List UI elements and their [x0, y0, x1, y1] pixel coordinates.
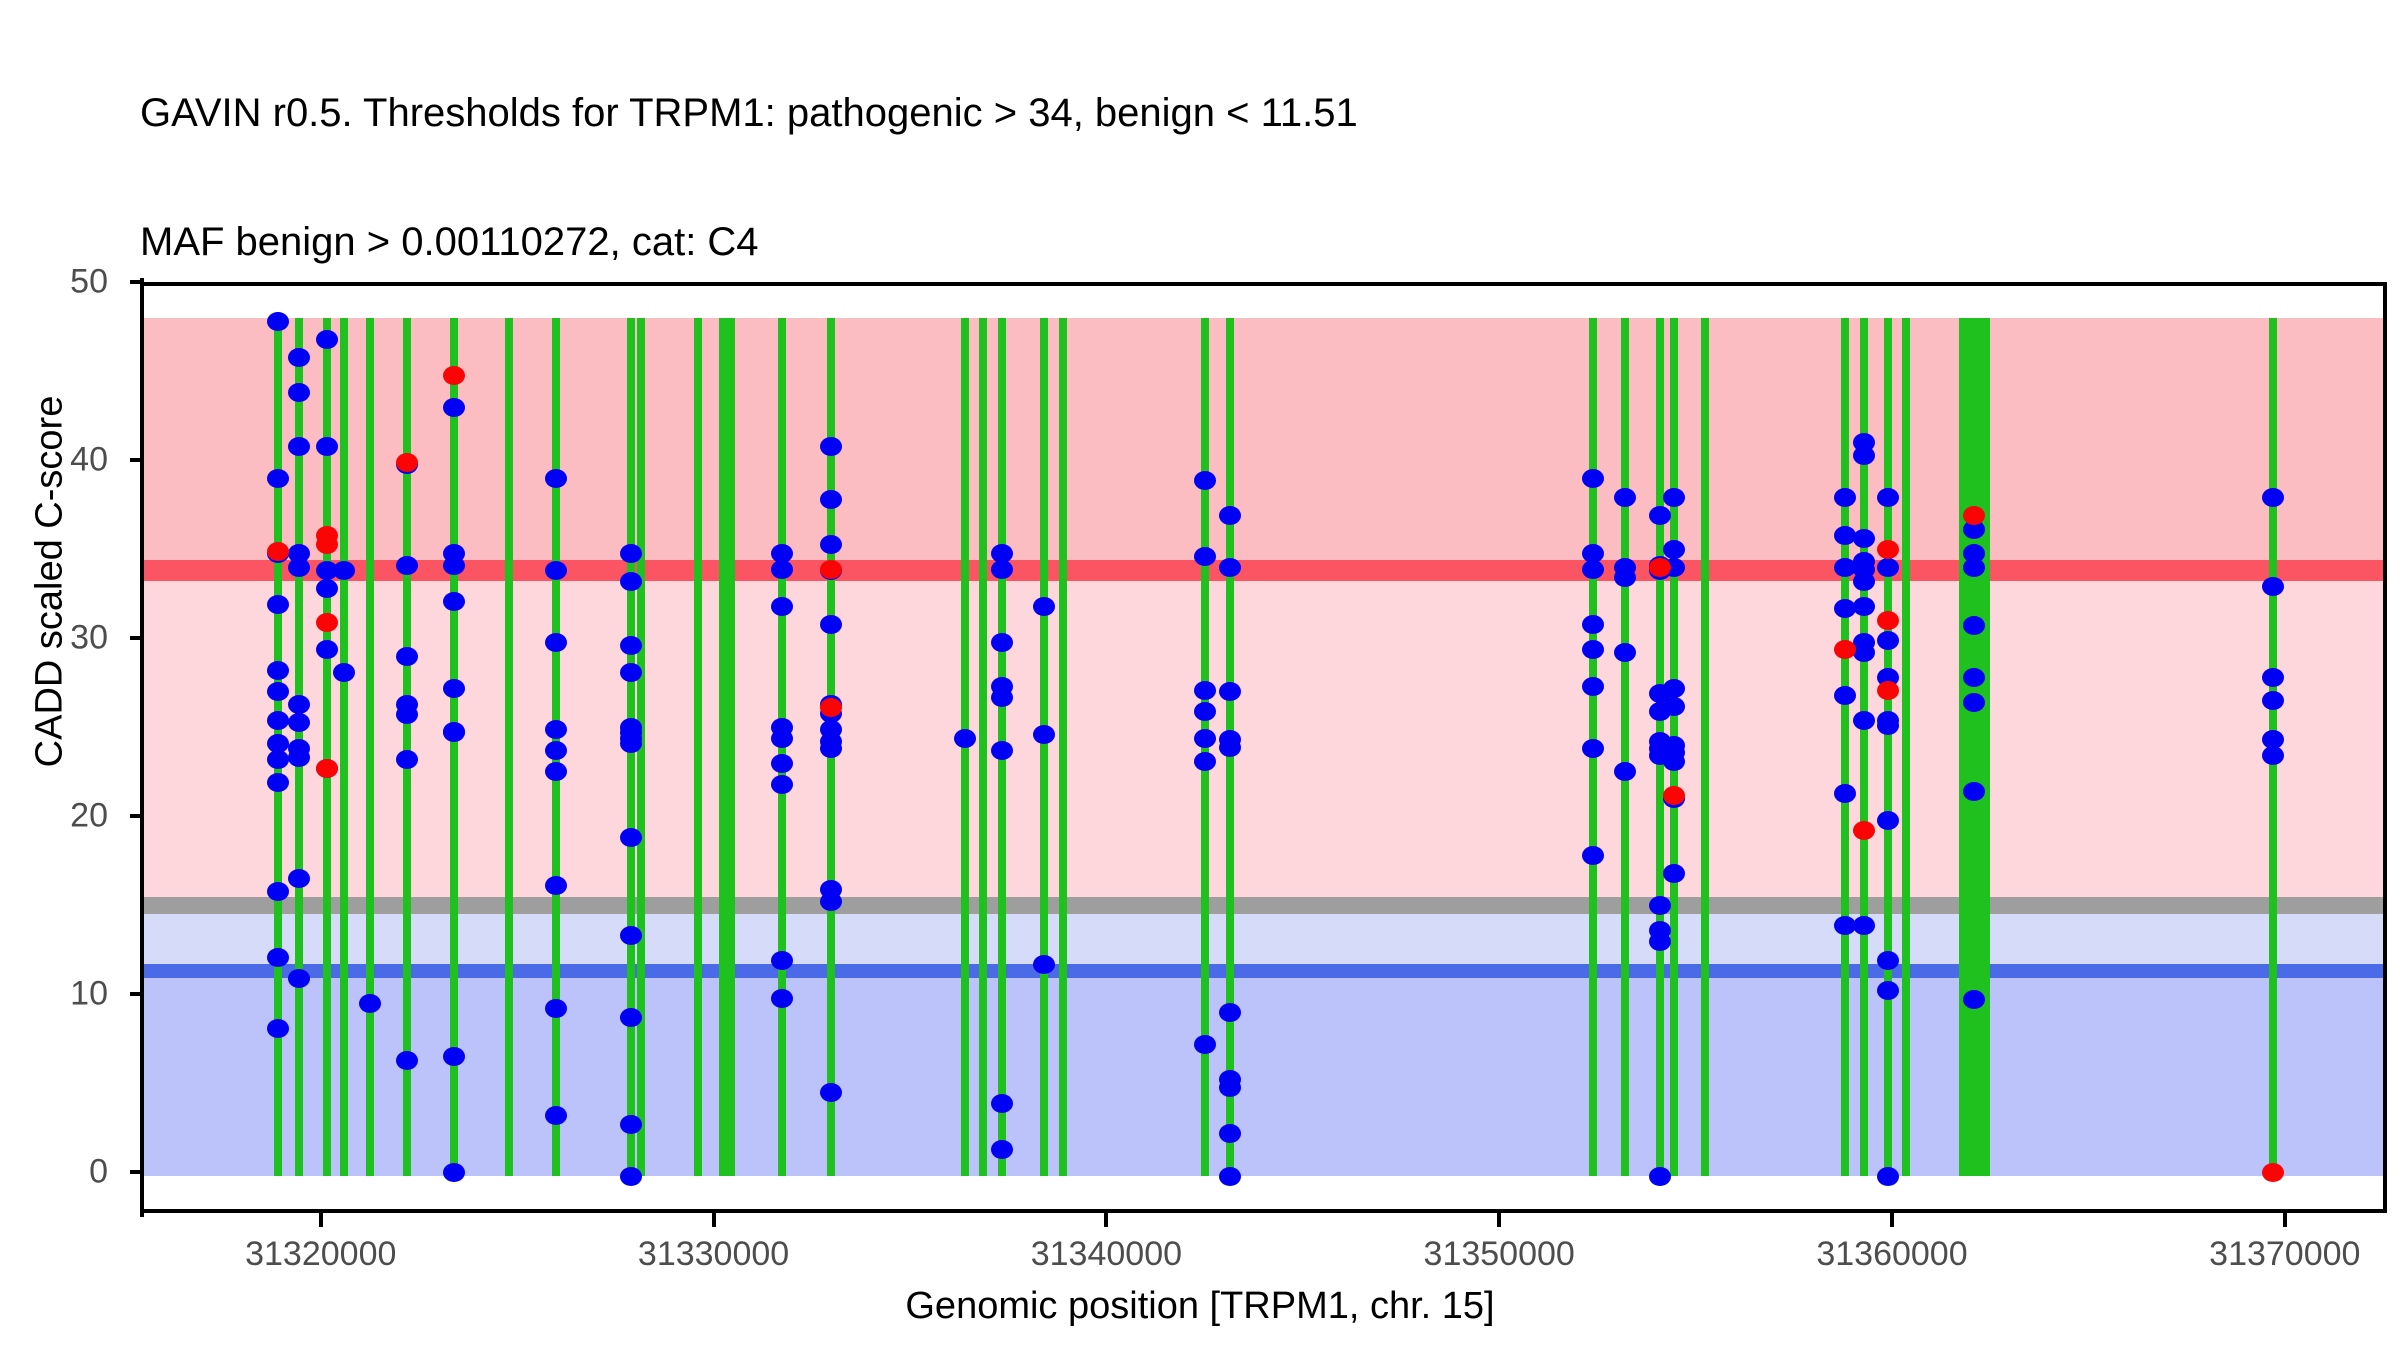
gnomad-variant-point — [1219, 558, 1241, 577]
clinvar-pathogenic-point — [1663, 786, 1685, 805]
gnomad-variant-point — [771, 989, 793, 1008]
gnomad-variant-point — [316, 330, 338, 349]
x-tick — [319, 1213, 323, 1227]
gnomad-variant-point — [1582, 615, 1604, 634]
gnomad-variant-point — [267, 711, 289, 730]
exon-line — [694, 318, 702, 1176]
gnomad-variant-point — [820, 615, 842, 634]
y-tick — [130, 1170, 144, 1174]
exon-line — [366, 318, 374, 1176]
gnomad-variant-point — [443, 679, 465, 698]
gnomad-variant-point — [443, 592, 465, 611]
exon-line — [1841, 318, 1849, 1176]
gnomad-variant-point — [267, 661, 289, 680]
gnomad-variant-point — [1219, 1124, 1241, 1143]
gnomad-variant-point — [771, 775, 793, 794]
gnomad-variant-point — [820, 437, 842, 456]
exon-line — [340, 318, 348, 1176]
gnomad-variant-point — [1649, 932, 1671, 951]
gnomad-variant-point — [1194, 702, 1216, 721]
gnomad-variant-point — [267, 750, 289, 769]
exon-line — [403, 318, 411, 1176]
gnomad-variant-point — [396, 1051, 418, 1070]
x-tick — [1497, 1213, 1501, 1227]
exon-line — [1701, 318, 1709, 1176]
clinvar-pathogenic-point — [1877, 681, 1899, 700]
clinvar-pathogenic-point — [820, 560, 842, 579]
gnomad-variant-point — [443, 398, 465, 417]
gnomad-variant-point — [1219, 1003, 1241, 1022]
x-tick-label: 31330000 — [638, 1235, 789, 1274]
gnomad-variant-point — [1194, 471, 1216, 490]
gnomad-variant-point — [316, 437, 338, 456]
gnomad-variant-point — [620, 1115, 642, 1134]
y-tick-label: 50 — [70, 263, 108, 302]
clinvar-pathogenic-point — [316, 613, 338, 632]
y-tick — [130, 458, 144, 462]
gnomad-variant-point — [288, 969, 310, 988]
exon-line — [727, 318, 735, 1176]
y-tick-label: 20 — [70, 797, 108, 836]
y-tick — [130, 280, 144, 284]
y-tick-label: 0 — [89, 1153, 108, 1192]
clinvar-pathogenic-point — [1877, 540, 1899, 559]
x-tick — [712, 1213, 716, 1227]
x-tick — [1890, 1213, 1894, 1227]
gnomad-variant-point — [1877, 811, 1899, 830]
gnomad-variant-point — [316, 640, 338, 659]
gnomad-variant-point — [1663, 752, 1685, 771]
gnomad-variant-point — [620, 1008, 642, 1027]
gnomad-variant-point — [991, 560, 1013, 579]
y-tick-label: 10 — [70, 975, 108, 1014]
y-axis-label: CADD scaled C-score — [29, 232, 72, 932]
gnomad-variant-point — [1194, 1035, 1216, 1054]
gnomad-variant-point — [333, 663, 355, 682]
gnomad-variant-point — [1219, 1167, 1241, 1186]
band-pathogenic-zone — [144, 318, 2383, 571]
gnomad-variant-point — [288, 348, 310, 367]
clinvar-pathogenic-point — [267, 542, 289, 561]
x-tick-label: 31320000 — [245, 1235, 396, 1274]
band-benign-zone — [144, 978, 2383, 1176]
gnomad-variant-point — [267, 469, 289, 488]
gnomad-variant-point — [771, 729, 793, 748]
y-axis: 01020304050 — [116, 278, 144, 1217]
gnomad-variant-point — [620, 572, 642, 591]
band-benign-threshold — [144, 964, 2383, 978]
gnomad-variant-point — [267, 595, 289, 614]
gnomad-variant-point — [1033, 955, 1055, 974]
gnomad-variant-point — [1853, 446, 1875, 465]
gnomad-variant-point — [267, 948, 289, 967]
band-vous-zone — [144, 581, 2383, 905]
gnomad-variant-point — [1834, 686, 1856, 705]
gnomad-variant-point — [316, 579, 338, 598]
gnomad-variant-point — [620, 544, 642, 563]
gnomad-variant-point — [1219, 1078, 1241, 1097]
exon-line — [505, 318, 513, 1176]
x-tick-label: 31350000 — [1424, 1235, 1575, 1274]
x-tick — [2283, 1213, 2287, 1227]
x-tick — [1104, 1213, 1108, 1227]
band-pathogenic-threshold — [144, 560, 2383, 581]
gnomad-variant-point — [288, 558, 310, 577]
gnomad-variant-point — [1663, 679, 1685, 698]
gnomad-variant-point — [1194, 752, 1216, 771]
clinvar-pathogenic-point — [1649, 558, 1671, 577]
exon-line — [1884, 318, 1892, 1176]
gnomad-variant-point — [1834, 784, 1856, 803]
gnomad-variant-point — [267, 312, 289, 331]
gnomad-variant-point — [1663, 864, 1685, 883]
gnomad-variant-point — [771, 597, 793, 616]
gnomad-variant-point — [359, 994, 381, 1013]
gnomad-variant-point — [1853, 916, 1875, 935]
y-tick-label: 40 — [70, 441, 108, 480]
clinvar-pathogenic-point — [396, 453, 418, 472]
x-tick-label: 31340000 — [1031, 1235, 1182, 1274]
gnomad-variant-point — [545, 720, 567, 739]
gnomad-variant-point — [620, 1167, 642, 1186]
exon-line — [1040, 318, 1048, 1176]
exon-line — [1621, 318, 1629, 1176]
gnomad-variant-point — [620, 636, 642, 655]
title-line-1: GAVIN r0.5. Thresholds for TRPM1: pathog… — [140, 92, 2340, 135]
gnomad-variant-point — [1033, 597, 1055, 616]
band-between-zone — [144, 914, 2383, 964]
gnomad-variant-point — [396, 750, 418, 769]
gnomad-variant-point — [771, 560, 793, 579]
y-tick — [130, 992, 144, 996]
clinvar-pathogenic-point — [443, 366, 465, 385]
gnomad-variant-point — [954, 729, 976, 748]
gnomad-variant-point — [1663, 697, 1685, 716]
x-axis-line — [140, 1209, 2387, 1213]
gnomad-variant-point — [991, 1094, 1013, 1113]
clinvar-pathogenic-point — [2262, 1163, 2284, 1182]
gnomad-variant-point — [267, 682, 289, 701]
gnomad-variant-point — [267, 1019, 289, 1038]
y-tick — [130, 636, 144, 640]
clinvar-pathogenic-point — [316, 759, 338, 778]
x-tick-label: 31370000 — [2209, 1235, 2360, 1274]
gnomad-variant-point — [1033, 725, 1055, 744]
exon-line — [719, 318, 727, 1176]
gnomad-variant-point — [1877, 558, 1899, 577]
gnomad-variant-point — [620, 734, 642, 753]
gnomad-variant-point — [620, 663, 642, 682]
exon-line — [979, 318, 987, 1176]
gnomad-variant-point — [545, 469, 567, 488]
gnomad-variant-point — [771, 754, 793, 773]
y-tick — [130, 814, 144, 818]
band-fallback-threshold — [144, 897, 2383, 915]
gnomad-variant-point — [1194, 681, 1216, 700]
x-tick-label: 31360000 — [1816, 1235, 1967, 1274]
gnomad-variant-point — [396, 647, 418, 666]
clinvar-pathogenic-point — [316, 535, 338, 554]
exon-line — [1059, 318, 1067, 1176]
gnomad-variant-point — [1582, 469, 1604, 488]
gnomad-variant-point — [2262, 668, 2284, 687]
gnomad-variant-point — [1219, 738, 1241, 757]
gnomad-variant-point — [288, 695, 310, 714]
gnomad-variant-point — [396, 556, 418, 575]
gnomad-variant-point — [1877, 631, 1899, 650]
exon-line — [1902, 318, 1910, 1176]
gnomad-variant-point — [545, 633, 567, 652]
gnomad-variant-point — [1614, 643, 1636, 662]
gnomad-variant-point — [1582, 560, 1604, 579]
gnomad-variant-point — [267, 773, 289, 792]
y-tick-label: 30 — [70, 619, 108, 658]
gnomad-variant-point — [820, 535, 842, 554]
plot-panel — [140, 282, 2387, 1213]
y-axis-line — [140, 278, 144, 1217]
gnomad-variant-point — [1877, 1167, 1899, 1186]
gnomad-variant-point — [991, 688, 1013, 707]
chart-root: GAVIN r0.5. Thresholds for TRPM1: pathog… — [0, 0, 2400, 1350]
gnomad-variant-point — [1582, 640, 1604, 659]
gnomad-variant-point — [288, 713, 310, 732]
gnomad-variant-point — [443, 1163, 465, 1182]
title-line-2: MAF benign > 0.00110272, cat: C4 — [140, 221, 2340, 264]
x-axis-label: Genomic position [TRPM1, chr. 15] — [0, 1285, 2400, 1328]
gnomad-variant-point — [267, 882, 289, 901]
gnomad-variant-point — [1194, 729, 1216, 748]
gnomad-variant-point — [1649, 896, 1671, 915]
gnomad-variant-point — [288, 437, 310, 456]
gnomad-variant-point — [991, 1140, 1013, 1159]
clinvar-pathogenic-point — [1834, 640, 1856, 659]
gnomad-variant-point — [1649, 1167, 1671, 1186]
gnomad-variant-point — [1663, 540, 1685, 559]
gnomad-variant-point — [991, 633, 1013, 652]
exon-line-wide — [1959, 318, 1990, 1176]
gnomad-variant-point — [1194, 547, 1216, 566]
